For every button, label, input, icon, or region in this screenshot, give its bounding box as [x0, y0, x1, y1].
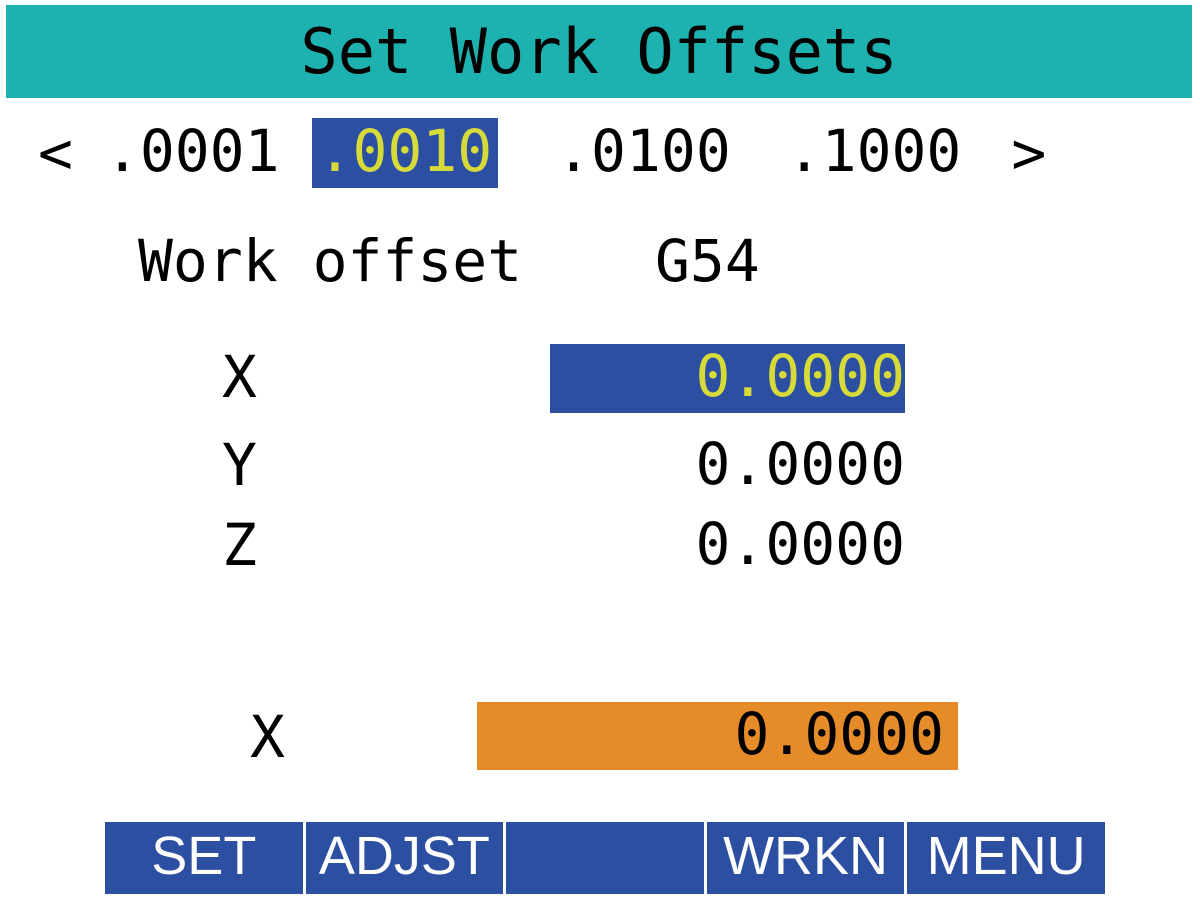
- work-offset-label: Work offset: [138, 232, 522, 290]
- dro-row: X 0.0000: [0, 700, 1200, 776]
- work-offset-row: Work offset G54: [0, 232, 1200, 302]
- softkey-bar: SET ADJST WRKN MENU: [105, 822, 1105, 894]
- increment-selector: < .0001 .0010 .0100 .1000 >: [0, 114, 1200, 192]
- axis-row-z[interactable]: Z 0.0000: [0, 512, 1200, 580]
- increment-next-arrow-icon[interactable]: >: [1011, 119, 1046, 187]
- dro-axis-label: X: [250, 708, 285, 766]
- axis-value-x[interactable]: 0.0000: [550, 344, 905, 413]
- axis-label-z: Z: [222, 516, 257, 574]
- dro-value-field[interactable]: 0.0000: [477, 702, 958, 770]
- softkey-wrkn[interactable]: WRKN: [707, 822, 905, 894]
- axis-value-z[interactable]: 0.0000: [550, 512, 905, 581]
- softkey-adjst[interactable]: ADJST: [306, 822, 504, 894]
- increment-option-0100[interactable]: .0100: [550, 118, 737, 188]
- work-offset-value[interactable]: G54: [655, 232, 760, 290]
- increment-prev-arrow-icon[interactable]: <: [38, 119, 73, 187]
- axis-row-x[interactable]: X 0.0000: [0, 344, 1200, 412]
- axis-label-y: Y: [222, 436, 257, 494]
- increment-option-1000[interactable]: .1000: [781, 118, 968, 188]
- axis-label-x: X: [222, 348, 257, 406]
- axis-value-y[interactable]: 0.0000: [550, 432, 905, 501]
- axis-row-y[interactable]: Y 0.0000: [0, 432, 1200, 500]
- increment-option-0001[interactable]: .0001: [99, 118, 286, 188]
- softkey-blank[interactable]: [506, 822, 704, 894]
- softkey-menu[interactable]: MENU: [907, 822, 1105, 894]
- page-title: Set Work Offsets: [300, 21, 897, 83]
- title-bar: Set Work Offsets: [6, 5, 1192, 98]
- softkey-set[interactable]: SET: [105, 822, 303, 894]
- increment-option-0010[interactable]: .0010: [312, 118, 499, 188]
